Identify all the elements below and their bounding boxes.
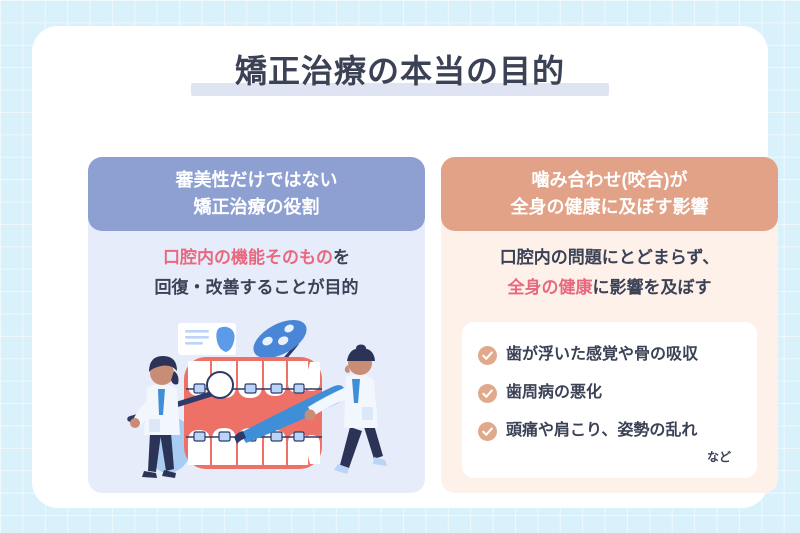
right-lead-line2-rest: に影響を及ぼす [593, 278, 712, 297]
right-lead-line2: 全身の健康に影響を及ぼす [441, 273, 778, 303]
left-lead-line1-rest: を [333, 248, 350, 267]
right-header-line2: 全身の健康に及ぼす影響 [511, 194, 709, 221]
list-item: 頭痛や肩こり、姿勢の乱れ [478, 412, 741, 450]
page-title-wrap: 矯正治療の本当の目的 [32, 50, 768, 92]
checklist-footnote: など [478, 448, 741, 465]
left-header-line1: 審美性だけではない [176, 167, 338, 194]
dentists-with-braces-teeth-illustration [102, 315, 411, 483]
checklist-label: 頭痛や肩こり、姿勢の乱れ [506, 421, 697, 441]
right-panel: 噛み合わせ(咬合)が 全身の健康に及ぼす影響 口腔内の問題にとどまらず、 全身の… [441, 157, 778, 493]
left-panel-header: 審美性だけではない 矯正治療の役割 [88, 157, 425, 231]
checklist-label: 歯が浮いた感覚や骨の吸収 [506, 345, 698, 365]
left-lead-line1: 口腔内の機能そのものを [88, 243, 425, 273]
check-circle-icon [478, 346, 497, 365]
left-panel: 審美性だけではない 矯正治療の役割 口腔内の機能そのものを 回復・改善することが… [88, 157, 425, 493]
list-item: 歯周病の悪化 [478, 374, 741, 412]
page-title: 矯正治療の本当の目的 [235, 50, 565, 92]
check-circle-icon [478, 384, 497, 403]
right-lead-line1: 口腔内の問題にとどまらず、 [441, 243, 778, 273]
checklist-label: 歯周病の悪化 [506, 383, 602, 403]
right-panel-header: 噛み合わせ(咬合)が 全身の健康に及ぼす影響 [441, 157, 778, 231]
right-lead-text: 口腔内の問題にとどまらず、 全身の健康に影響を及ぼす [441, 243, 778, 303]
left-header-line2: 矯正治療の役割 [176, 194, 338, 221]
left-lead-line2: 回復・改善することが目的 [88, 273, 425, 303]
right-lead-highlight: 全身の健康 [508, 278, 593, 297]
symptoms-checklist-card: 歯が浮いた感覚や骨の吸収 歯周病の悪化 [462, 322, 757, 478]
left-lead-highlight: 口腔内の機能そのもの [163, 248, 333, 267]
right-header-line1: 噛み合わせ(咬合)が [511, 167, 709, 194]
page-root: 矯正治療の本当の目的 審美性だけではない 矯正治療の役割 口腔内の機能そのものを… [0, 0, 800, 533]
left-lead-text: 口腔内の機能そのものを 回復・改善することが目的 [88, 243, 425, 303]
list-item: 歯が浮いた感覚や骨の吸収 [478, 336, 741, 374]
content-card: 矯正治療の本当の目的 審美性だけではない 矯正治療の役割 口腔内の機能そのものを… [32, 26, 768, 508]
check-circle-icon [478, 422, 497, 441]
